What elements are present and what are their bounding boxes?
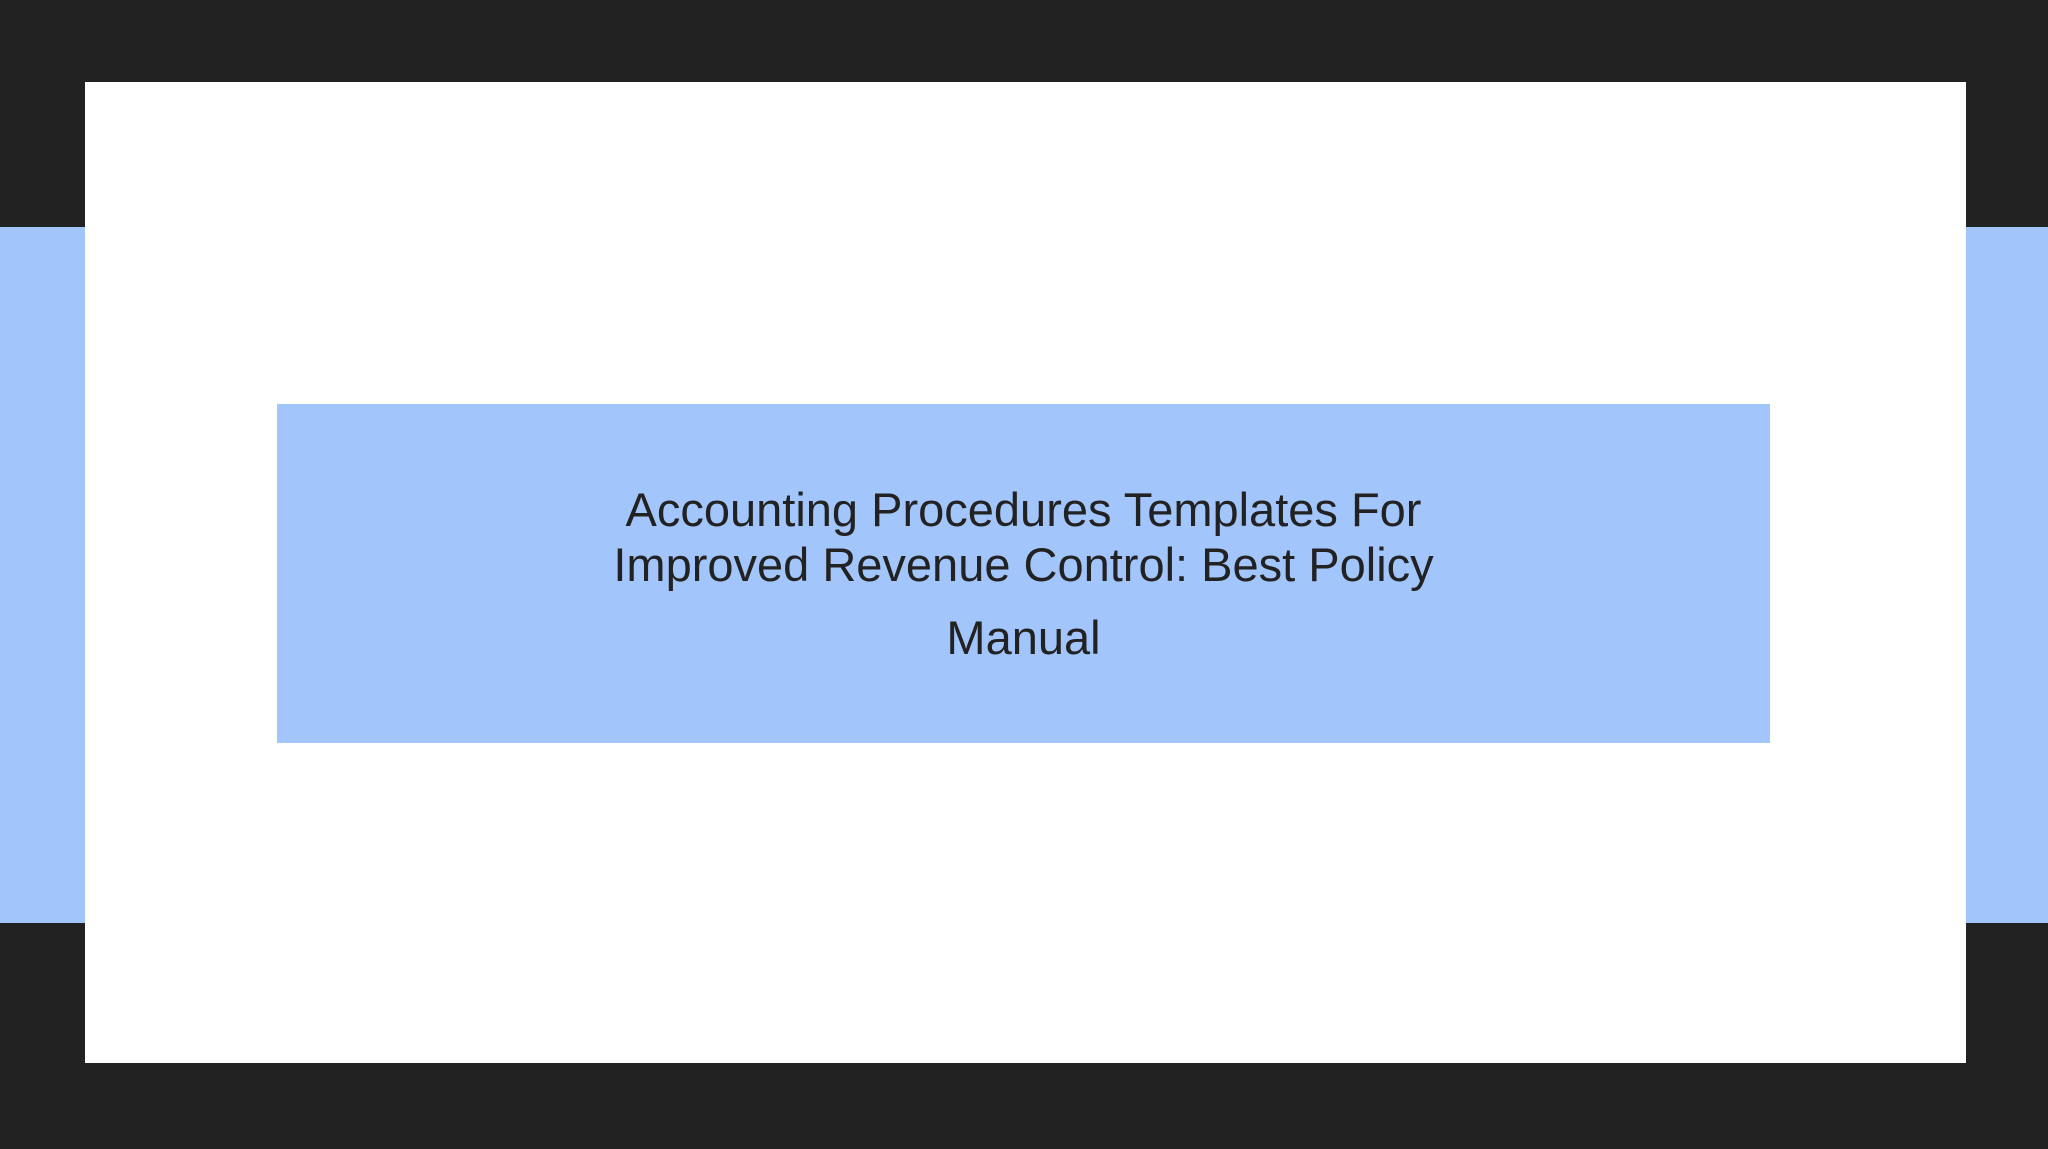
title-highlight-block: Accounting Procedures Templates For Impr… xyxy=(277,404,1770,743)
page-title: Accounting Procedures Templates For Impr… xyxy=(564,482,1484,665)
document-panel: Accounting Procedures Templates For Impr… xyxy=(85,82,1966,1063)
page-title-line-2: Improved Revenue Control: Best Policy xyxy=(613,538,1433,591)
slide-stage: Accounting Procedures Templates For Impr… xyxy=(0,0,2048,1149)
page-title-line-3: Manual xyxy=(564,610,1484,665)
page-title-line-1: Accounting Procedures Templates For xyxy=(626,483,1422,536)
